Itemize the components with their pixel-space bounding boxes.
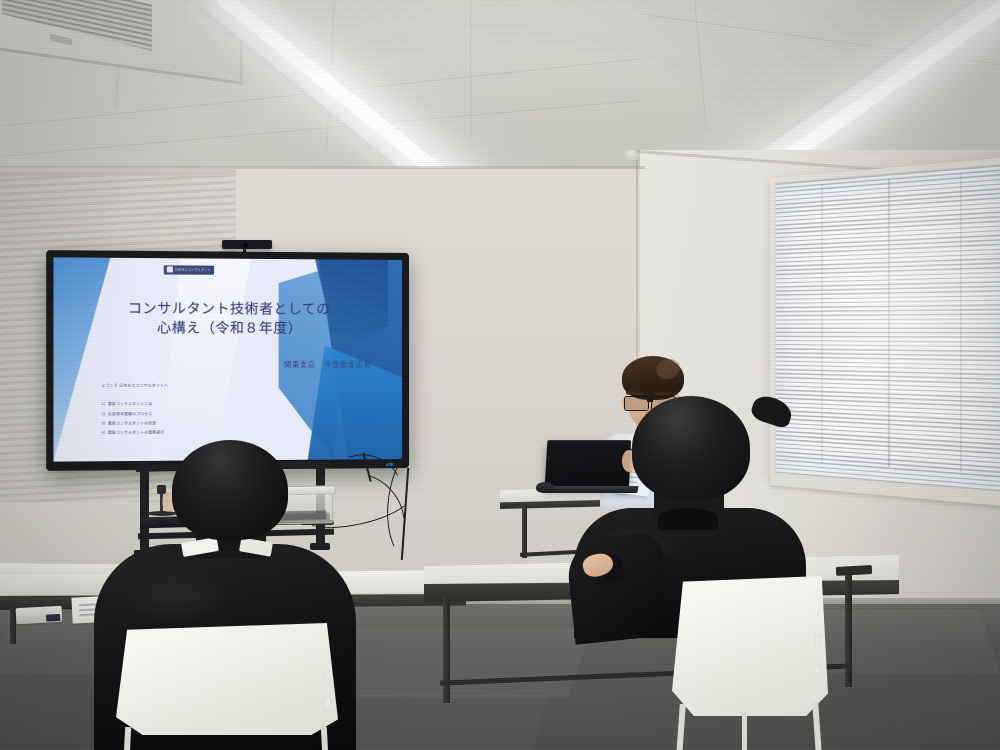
chair-backrest bbox=[116, 623, 338, 735]
shoulder-highlight bbox=[120, 568, 230, 624]
chair-notch bbox=[324, 697, 331, 709]
hair-tuft bbox=[749, 392, 795, 429]
flat-panel-display[interactable]: 日本水工コンサルタント コンサルタント技術者としての 心構え（令和８年度） 関東… bbox=[46, 250, 409, 471]
chair-notch bbox=[324, 671, 331, 683]
chair-leg bbox=[676, 704, 686, 750]
small-desk-device bbox=[16, 606, 63, 624]
chair-notch bbox=[814, 664, 821, 676]
window bbox=[770, 157, 1000, 499]
conference-camera bbox=[222, 240, 272, 249]
hair-part bbox=[653, 356, 682, 382]
chair-right[interactable] bbox=[672, 576, 828, 750]
meeting-room-photo: 日本水工コンサルタント コンサルタント技術者としての 心構え（令和８年度） 関東… bbox=[0, 0, 1000, 750]
window-daylight-glow bbox=[776, 164, 1000, 491]
ac-grille-icon bbox=[2, 0, 152, 51]
chair-backrest bbox=[672, 576, 828, 716]
camera-mount bbox=[243, 248, 246, 258]
device-panel bbox=[46, 614, 60, 622]
chair-leg bbox=[321, 727, 329, 750]
table-bracket bbox=[836, 565, 872, 576]
hair bbox=[632, 396, 750, 500]
arm bbox=[565, 531, 671, 644]
chair-left[interactable] bbox=[116, 623, 338, 750]
table-leg bbox=[845, 575, 852, 687]
display-bezel bbox=[46, 250, 409, 471]
camera-lens-icon bbox=[243, 243, 248, 248]
table-leg bbox=[522, 506, 527, 558]
chair-leg bbox=[742, 712, 747, 750]
chair-notch bbox=[814, 634, 821, 646]
chair-leg bbox=[812, 702, 822, 750]
chair-leg bbox=[123, 727, 131, 750]
hair bbox=[172, 440, 288, 540]
jacket-collar bbox=[658, 508, 718, 530]
table-leg bbox=[443, 598, 450, 703]
ac-tab bbox=[50, 33, 72, 45]
computer-mouse[interactable] bbox=[536, 482, 554, 493]
